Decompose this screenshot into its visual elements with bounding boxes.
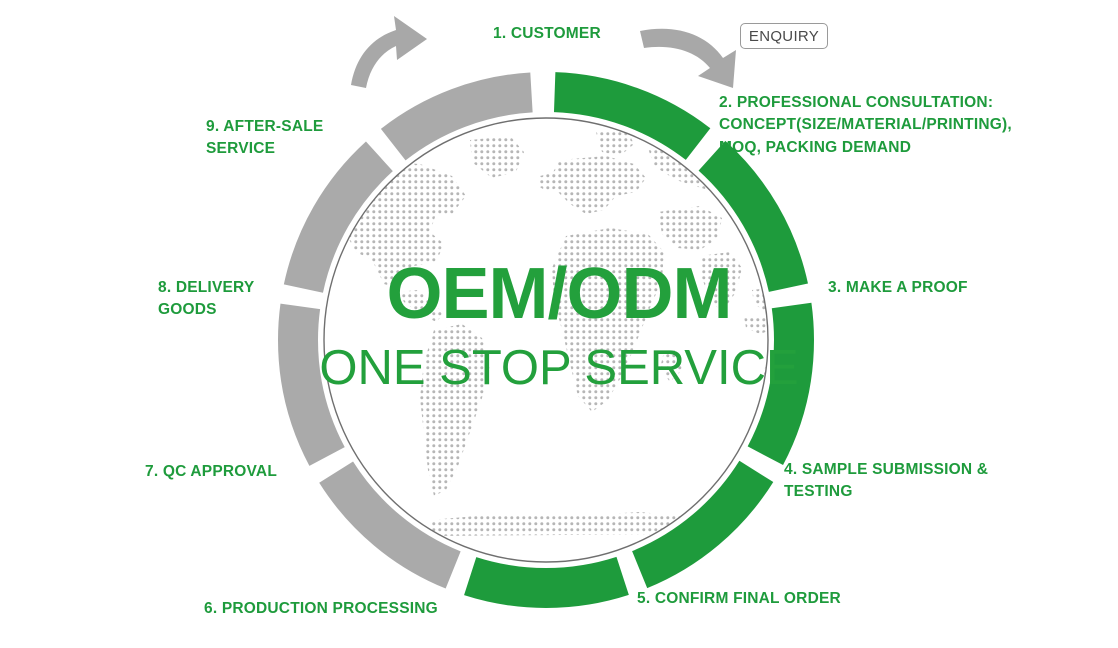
step-label-6[interactable]: 6. PRODUCTION PROCESSING xyxy=(204,598,438,620)
enquiry-button[interactable]: ENQUIRY xyxy=(740,23,828,49)
arrow-left-curved xyxy=(351,16,427,88)
step-label-1[interactable]: 1. CUSTOMER xyxy=(493,23,601,45)
arrow-right-curved xyxy=(640,29,736,88)
step-label-2[interactable]: 2. PROFESSIONAL CONSULTATION: CONCEPT(SI… xyxy=(719,92,1012,159)
step-label-5[interactable]: 5. CONFIRM FINAL ORDER xyxy=(637,588,841,610)
step-label-7[interactable]: 7. QC APPROVAL xyxy=(145,461,277,483)
step-label-8[interactable]: 8. DELIVERY GOODS xyxy=(158,277,254,321)
diagram-canvas: OEM/ODM ONE STOP SERVICE ENQUIRY 1. CUST… xyxy=(0,0,1118,648)
step-label-9[interactable]: 9. AFTER-SALE SERVICE xyxy=(206,116,323,160)
step-label-4[interactable]: 4. SAMPLE SUBMISSION & TESTING xyxy=(784,459,988,503)
process-ring-segments xyxy=(298,92,794,588)
step-label-3[interactable]: 3. MAKE A PROOF xyxy=(828,277,968,299)
